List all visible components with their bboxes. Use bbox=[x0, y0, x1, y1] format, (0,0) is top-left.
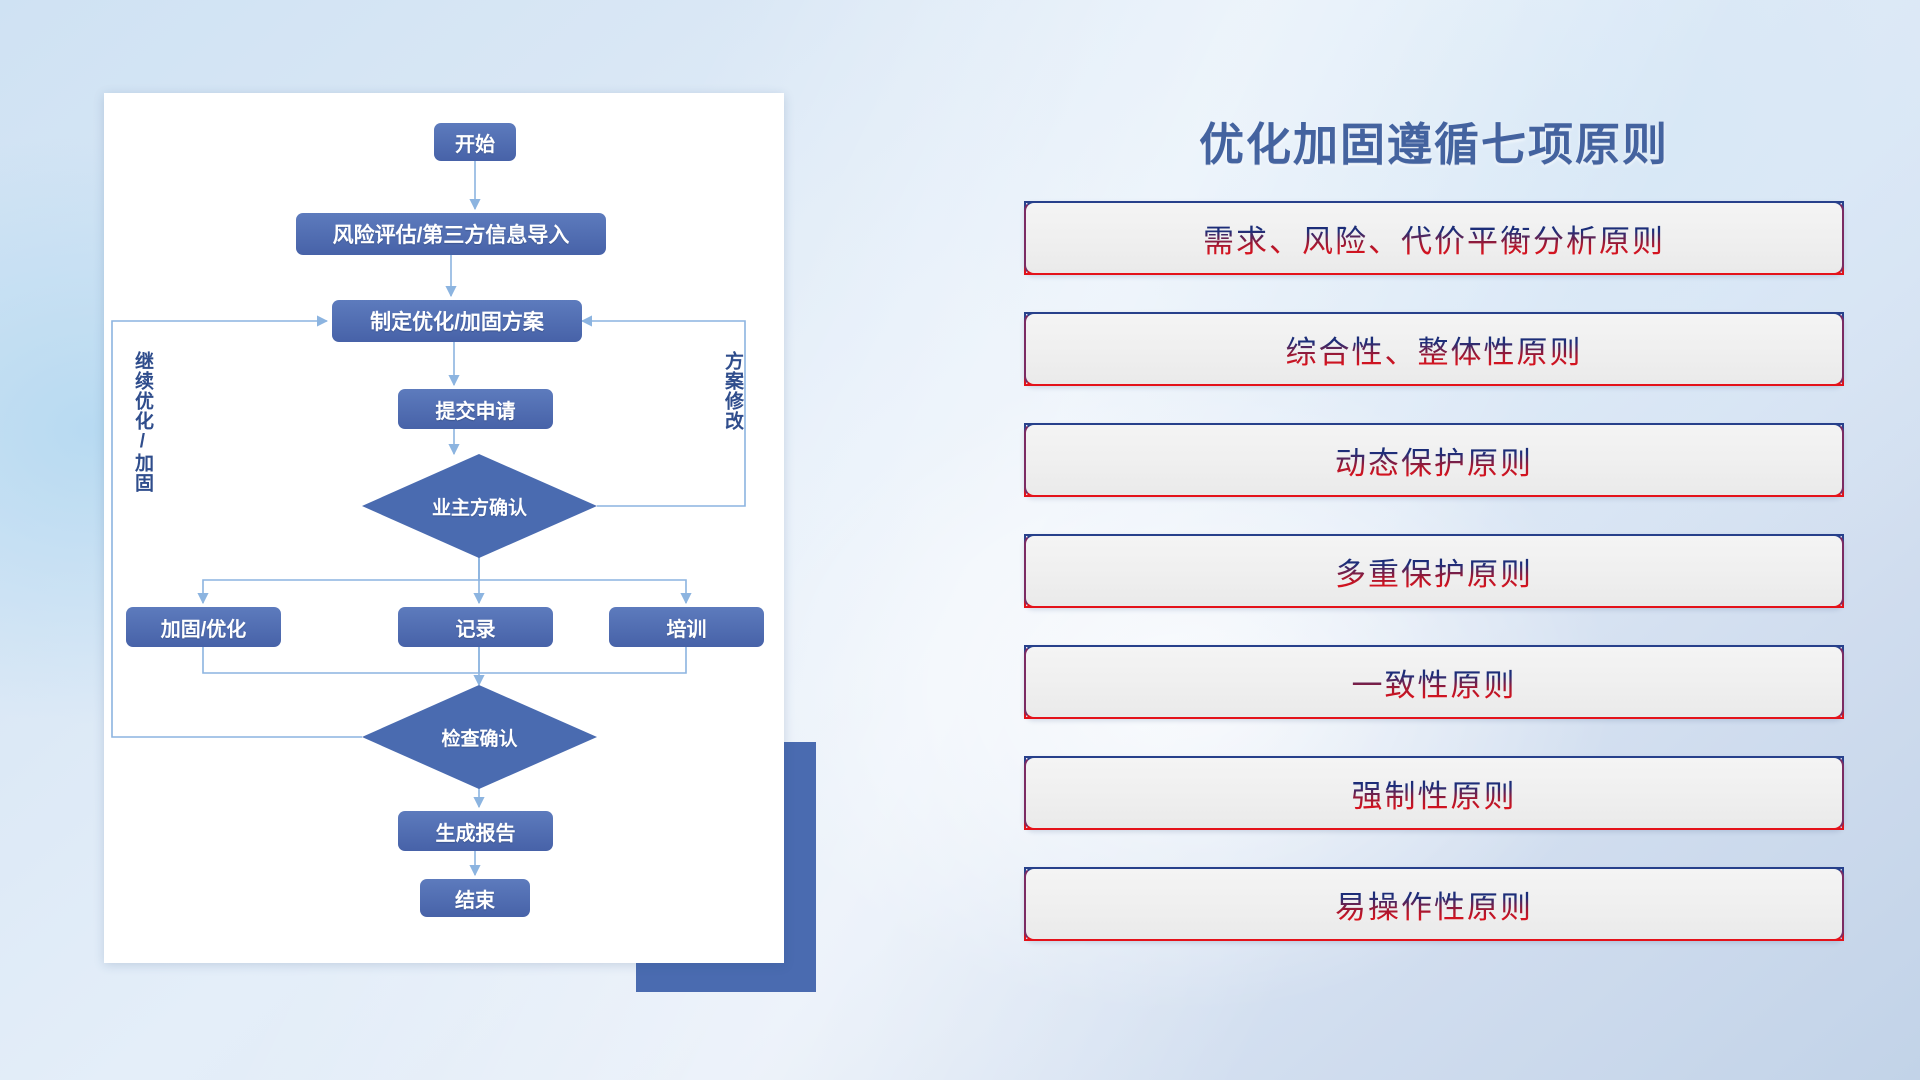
principle-card-2[interactable]: 综合性、整体性原则 bbox=[1024, 312, 1844, 386]
principle-card-1[interactable]: 需求、风险、代价平衡分析原则 bbox=[1024, 201, 1844, 275]
flow-edge-label-plan-revision: 方案修改 bbox=[722, 351, 742, 481]
principle-label: 一致性原则 bbox=[1352, 660, 1517, 705]
principle-label: 动态保护原则 bbox=[1335, 438, 1533, 483]
flow-merge-lines bbox=[203, 647, 686, 673]
flow-edge-label-continue-optimize: 继续优化/加固 bbox=[132, 351, 152, 521]
principle-card-5[interactable]: 一致性原则 bbox=[1024, 645, 1844, 719]
principle-label: 多重保护原则 bbox=[1335, 549, 1533, 594]
principle-label: 强制性原则 bbox=[1352, 771, 1517, 816]
principle-label: 易操作性原则 bbox=[1335, 882, 1533, 927]
principles-title: 优化加固遵循七项原则 bbox=[1024, 108, 1844, 173]
flowchart-svg bbox=[104, 93, 784, 963]
principle-card-4[interactable]: 多重保护原则 bbox=[1024, 534, 1844, 608]
flow-node-shapes bbox=[126, 123, 764, 917]
principle-label: 需求、风险、代价平衡分析原则 bbox=[1203, 216, 1665, 261]
principle-card-7[interactable]: 易操作性原则 bbox=[1024, 867, 1844, 941]
principles-panel: 优化加固遵循七项原则 需求、风险、代价平衡分析原则 综合性、整体性原则 动态保护… bbox=[1024, 108, 1844, 978]
principle-label: 综合性、整体性原则 bbox=[1286, 327, 1583, 372]
principle-card-3[interactable]: 动态保护原则 bbox=[1024, 423, 1844, 497]
principle-card-6[interactable]: 强制性原则 bbox=[1024, 756, 1844, 830]
flowchart-card: 开始 风险评估/第三方信息导入 制定优化/加固方案 提交申请 业主方确认 加固/… bbox=[104, 93, 784, 963]
